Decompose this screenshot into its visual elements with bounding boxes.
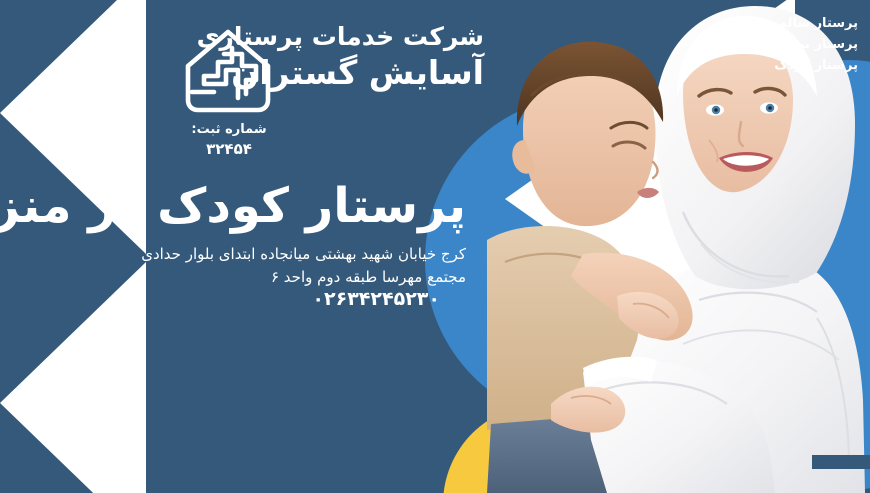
address-block: کرج خیابان شهید بهشتی میانجاده ابتدای بل… [141,243,466,290]
registration-number: ۳۲۴۵۴ [182,140,276,158]
phone-number: ۰۲۶۳۴۲۴۵۲۳۰ [312,288,440,310]
nursing-service-banner: شرکت خدمات پرستاری آسایش گستران شماره ثب… [0,0,870,493]
brand-name: شرکت خدمات پرستاری آسایش گستران [197,24,484,89]
registration-label: شماره ثبت: [182,122,276,137]
service-item-patient-nurse: پرستار بیمار [766,35,858,56]
chevron-triangle [0,262,146,493]
page-title: پرستار کودک در منزل [0,178,466,234]
brand-line-1: شرکت خدمات پرستاری [197,24,484,49]
address-line-1: کرج خیابان شهید بهشتی میانجاده ابتدای بل… [141,243,466,266]
left-chevron-decoration [0,0,146,493]
registration-block: شماره ثبت: ۳۲۴۵۴ [182,122,276,158]
logo-block: شرکت خدمات پرستاری آسایش گستران شماره ثب… [180,18,480,163]
navy-strip-decoration [812,455,870,469]
brand-line-2: آسایش گستران [197,56,484,89]
services-list: پرستار سالمند پرستار بیمار پرستار کودک [766,14,858,76]
address-line-2: مجتمع مهرسا طبقه دوم واحد ۶ [141,266,466,289]
service-item-elderly-nurse: پرستار سالمند [766,14,858,35]
service-item-child-nurse: پرستار کودک [766,56,858,77]
